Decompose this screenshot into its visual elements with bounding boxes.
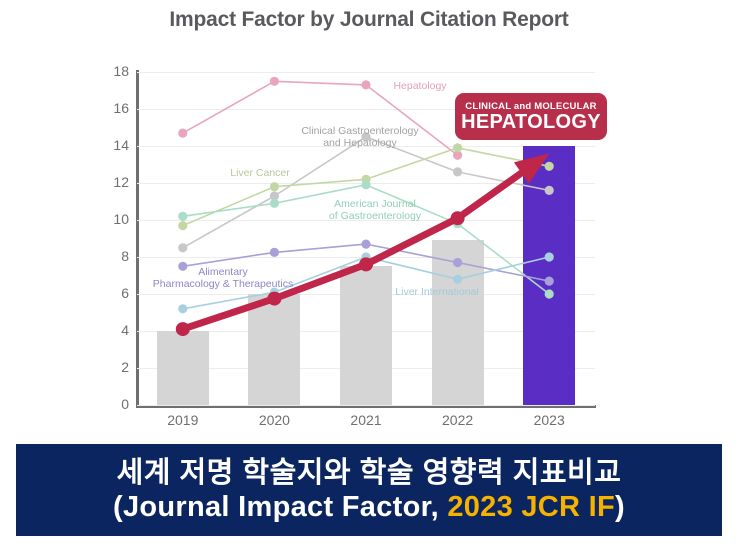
data-point xyxy=(178,221,187,230)
data-point xyxy=(361,80,370,89)
gridline xyxy=(137,405,595,406)
caption-suffix: ) xyxy=(615,491,625,523)
series-line xyxy=(183,81,458,155)
data-point xyxy=(178,243,187,252)
data-point xyxy=(453,275,462,284)
data-point xyxy=(270,199,279,208)
y-tick-label: 4 xyxy=(95,322,129,338)
journal-logo-badge: CLINICAL and MOLECULAR HEPATOLOGY xyxy=(455,93,607,140)
y-tick-label: 8 xyxy=(95,248,129,264)
x-tick-label: 2023 xyxy=(504,412,594,428)
x-tick-label: 2021 xyxy=(321,412,411,428)
y-tick-label: 6 xyxy=(95,285,129,301)
page-title: Impact Factor by Journal Citation Report xyxy=(0,8,738,32)
data-point xyxy=(361,240,370,249)
data-point xyxy=(270,248,279,257)
data-point xyxy=(361,132,370,141)
data-point xyxy=(178,262,187,271)
slide-root: Impact Factor by Journal Citation Report… xyxy=(0,0,738,555)
data-point xyxy=(453,167,462,176)
y-tick-label: 14 xyxy=(95,137,129,153)
data-point xyxy=(178,129,187,138)
data-point xyxy=(453,258,462,267)
x-tick-label: 2020 xyxy=(229,412,319,428)
caption-banner: 세계 저명 학술지와 학술 영향력 지표비교 (Journal Impact F… xyxy=(16,444,722,536)
data-point xyxy=(453,143,462,152)
data-point xyxy=(178,212,187,221)
caption-prefix: (Journal Impact Factor, xyxy=(113,491,447,523)
data-point xyxy=(270,182,279,191)
data-point xyxy=(178,304,187,313)
caption-highlight: 2023 JCR IF xyxy=(447,491,615,523)
y-tick-label: 10 xyxy=(95,211,129,227)
y-tick-label: 0 xyxy=(95,396,129,412)
y-tick-label: 2 xyxy=(95,359,129,375)
badge-main-text: HEPATOLOGY xyxy=(461,112,601,133)
data-point xyxy=(545,289,554,298)
data-point xyxy=(359,257,373,271)
caption-line-korean: 세계 저명 학술지와 학술 영향력 지표비교 xyxy=(117,456,622,490)
series-line xyxy=(183,185,549,294)
data-point xyxy=(176,322,190,336)
caption-line-english: (Journal Impact Factor, 2023 JCR IF) xyxy=(113,490,625,524)
data-point xyxy=(545,186,554,195)
data-point xyxy=(267,292,281,306)
data-point xyxy=(451,211,465,225)
y-tick-label: 12 xyxy=(95,174,129,190)
x-tick-label: 2022 xyxy=(413,412,503,428)
badge-top-text: CLINICAL and MOLECULAR xyxy=(465,101,596,112)
data-point xyxy=(361,180,370,189)
data-point xyxy=(545,252,554,261)
y-tick-label: 16 xyxy=(95,100,129,116)
y-tick-label: 18 xyxy=(95,63,129,79)
data-point xyxy=(270,77,279,86)
x-tick-label: 2019 xyxy=(138,412,228,428)
data-point xyxy=(545,162,554,171)
data-point xyxy=(545,277,554,286)
